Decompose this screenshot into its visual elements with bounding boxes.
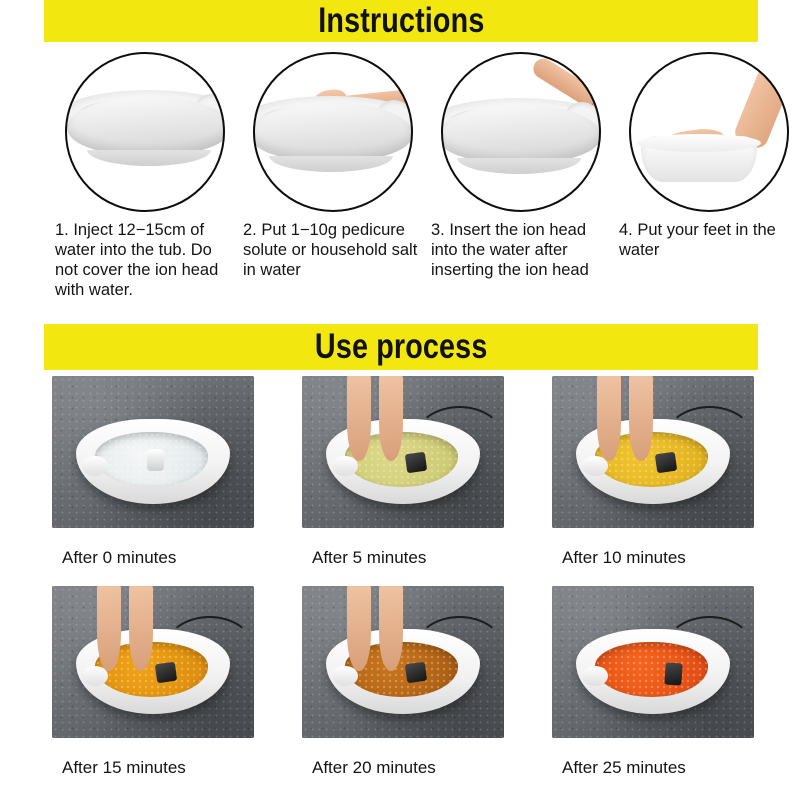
use-process-photo <box>302 586 504 738</box>
feet-in-water <box>334 586 427 671</box>
instructions-banner: Instructions <box>44 0 758 42</box>
instructions-banner-title: Instructions <box>318 1 484 41</box>
power-cord <box>415 406 504 471</box>
instruction-illustration-2 <box>253 52 413 212</box>
limb <box>597 376 621 461</box>
power-cord <box>665 406 754 471</box>
photo-caption: After 25 minutes <box>562 758 686 778</box>
use-process-photo-cell: After 0 minutes <box>52 376 302 586</box>
power-cord <box>165 616 254 681</box>
use-process-photo <box>302 376 504 528</box>
photo-caption: After 10 minutes <box>562 548 686 568</box>
photo-caption: After 5 minutes <box>312 548 426 568</box>
use-process-photo-cell: After 10 minutes <box>552 376 800 586</box>
instruction-illustration-3 <box>441 52 601 212</box>
feet-in-water <box>584 376 677 461</box>
limb <box>129 586 153 671</box>
instruction-step-2: 2. Put 1−10g pedicure solute or househol… <box>242 46 424 300</box>
use-process-photo <box>552 586 754 738</box>
instruction-caption-1: 1. Inject 12−15cm of water into the tub.… <box>54 220 236 300</box>
use-process-photo-cell: After 20 minutes <box>302 586 552 796</box>
use-process-banner: Use process <box>44 324 758 370</box>
use-process-photo <box>52 376 254 528</box>
use-process-banner-title: Use process <box>315 327 488 367</box>
limb <box>97 586 121 671</box>
photo-caption: After 20 minutes <box>312 758 436 778</box>
circle-outline <box>253 52 413 212</box>
use-process-photo-cell: After 5 minutes <box>302 376 552 586</box>
limb <box>379 376 403 461</box>
photo-caption: After 15 minutes <box>62 758 186 778</box>
limb <box>379 586 403 671</box>
use-process-photo-grid: After 0 minutesAfter 5 minutesAfter 10 m… <box>52 376 800 796</box>
instruction-steps-row: 1. Inject 12−15cm of water into the tub.… <box>0 46 800 300</box>
instruction-illustration-4 <box>629 52 789 212</box>
feet-in-water <box>334 376 427 461</box>
limb <box>347 586 371 671</box>
power-cord <box>665 616 754 681</box>
limb <box>629 376 653 461</box>
circle-outline <box>629 52 789 212</box>
power-cord <box>415 616 504 681</box>
feet-in-water <box>84 586 177 671</box>
limb <box>347 376 371 461</box>
instruction-illustration-1 <box>65 52 225 212</box>
use-process-photo <box>52 586 254 738</box>
instruction-caption-2: 2. Put 1−10g pedicure solute or househol… <box>242 220 424 280</box>
instruction-step-4: 4. Put your feet in the water <box>618 46 800 300</box>
use-process-photo-cell: After 15 minutes <box>52 586 302 796</box>
instruction-step-1: 1. Inject 12−15cm of water into the tub.… <box>54 46 236 300</box>
use-process-section: After 0 minutesAfter 5 minutesAfter 10 m… <box>0 376 800 800</box>
circle-outline <box>65 52 225 212</box>
use-process-photo <box>552 376 754 528</box>
use-process-photo-cell: After 25 minutes <box>552 586 800 796</box>
instructions-section: 1. Inject 12−15cm of water into the tub.… <box>0 46 800 318</box>
instruction-caption-4: 4. Put your feet in the water <box>618 220 800 260</box>
instruction-caption-3: 3. Insert the ion head into the water af… <box>430 220 612 280</box>
photo-caption: After 0 minutes <box>62 548 176 568</box>
circle-outline <box>441 52 601 212</box>
ion-head <box>147 449 164 471</box>
instruction-step-3: 3. Insert the ion head into the water af… <box>430 46 612 300</box>
